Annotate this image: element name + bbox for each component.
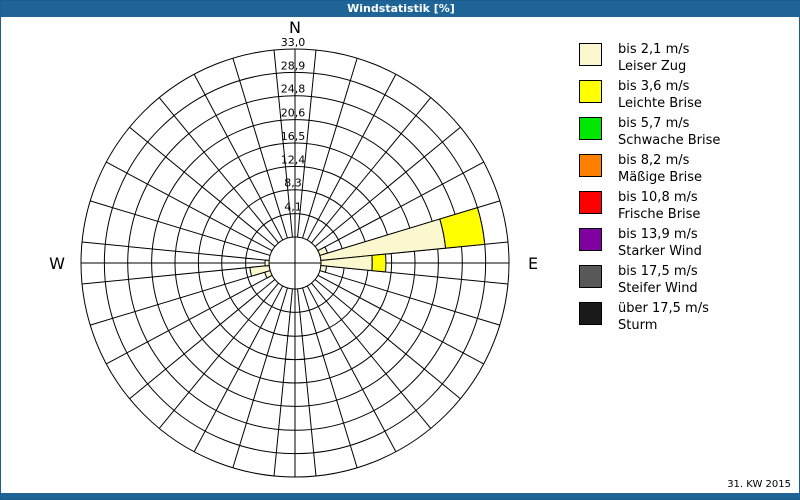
legend-item-text: bis 8,2 m/sMäßige Brise [618,152,702,186]
legend-item-text: bis 17,5 m/sSteifer Wind [618,263,698,297]
grid-spoke [106,162,272,251]
grid-spoke [233,288,288,468]
grid-spoke [315,279,460,398]
grid-spoke [90,271,270,326]
legend-beaufort-label: Leichte Brise [618,95,702,112]
legend-item[interactable]: bis 8,2 m/sMäßige Brise [579,152,794,186]
grid-spoke [307,74,396,240]
wind-petal-segment [265,260,269,266]
legend-color-swatch [579,154,602,177]
grid-spoke [194,286,283,452]
legend-item-text: bis 13,9 m/sStarker Wind [618,226,702,260]
grid-spoke [318,275,484,364]
axis-labels: 4,18,312,416,520,624,828,933,0 [281,36,306,214]
legend-item-text: bis 3,6 m/sLeichte Brise [618,78,702,112]
window-bottom-bar [1,493,800,499]
period-label: 31. KW 2015 [727,479,791,490]
radial-tick-label: 16,5 [281,130,306,143]
legend-item[interactable]: bis 3,6 m/sLeichte Brise [579,78,794,112]
wind-petal-segment [320,266,327,273]
grid-spoke [106,275,272,364]
legend-beaufort-label: Frische Brise [618,206,700,223]
grid-spoke [303,58,358,238]
legend-beaufort-label: Starker Wind [618,243,702,260]
radial-tick-label: 24,8 [281,83,306,96]
wind-petal-segment [440,208,485,249]
compass-label-east: E [528,254,538,273]
legend-item-text: bis 10,8 m/sFrische Brise [618,189,700,223]
grid-spoke [159,98,278,243]
legend-item[interactable]: bis 13,9 m/sStarker Wind [579,226,794,260]
legend-beaufort-label: Schwache Brise [618,132,720,149]
wind-petal-segment [372,254,386,272]
legend-color-swatch [579,228,602,251]
grid-spoke [130,127,275,246]
legend-beaufort-label: Leiser Zug [618,58,689,75]
legend-speed-label: bis 3,6 m/s [618,78,702,95]
grid-spoke [311,98,430,243]
legend-item[interactable]: bis 2,1 m/sLeiser Zug [579,41,794,75]
legend-speed-label: bis 2,1 m/s [618,41,689,58]
window-title: Windstatistik [%] [347,1,455,17]
legend-color-swatch [579,80,602,103]
legend-item-text: bis 2,1 m/sLeiser Zug [618,41,689,75]
legend-speed-label: über 17,5 m/s [618,300,709,317]
legend-color-swatch [579,265,602,288]
legend-item[interactable]: bis 5,7 m/sSchwache Brise [579,115,794,149]
radial-tick-label: 8,3 [284,177,302,190]
legend-speed-label: bis 17,5 m/s [618,263,698,280]
window-title-bar: Windstatistik [%] [1,1,800,17]
grid-spoke [130,279,275,398]
grid-spoke [159,283,278,428]
windstatistik-window: Windstatistik [%] 4,18,312,416,520,624,8… [0,0,800,500]
legend-speed-label: bis 10,8 m/s [618,189,700,206]
wind-rose-chart: 4,18,312,416,520,624,828,933,0NESW [1,17,561,495]
legend-item[interactable]: bis 10,8 m/sFrische Brise [579,189,794,223]
legend-item-text: bis 5,7 m/sSchwache Brise [618,115,720,149]
legend-color-swatch [579,43,602,66]
grid-spoke [311,283,430,428]
legend-item-text: über 17,5 m/sSturm [618,300,709,334]
legend-speed-label: bis 13,9 m/s [618,226,702,243]
legend-speed-label: bis 5,7 m/s [618,115,720,132]
legend-color-swatch [579,191,602,214]
grid-spoke [307,286,396,452]
grid-spoke [233,58,288,238]
grid-spoke [194,74,283,240]
legend-beaufort-label: Mäßige Brise [618,169,702,186]
compass-label-west: W [49,254,65,273]
legend-item[interactable]: bis 17,5 m/sSteifer Wind [579,263,794,297]
legend-speed-label: bis 8,2 m/s [618,152,702,169]
radial-tick-label: 33,0 [281,36,306,49]
grid-spoke [303,288,358,468]
legend-color-swatch [579,117,602,140]
legend-beaufort-label: Steifer Wind [618,280,698,297]
compass-label-north: N [289,18,301,37]
wind-rose-svg: 4,18,312,416,520,624,828,933,0NESW [1,17,561,495]
legend-item[interactable]: über 17,5 m/sSturm [579,300,794,334]
grid-spoke [320,271,500,326]
radial-tick-label: 20,6 [281,107,306,120]
radial-tick-label: 12,4 [281,153,306,166]
legend-color-swatch [579,302,602,325]
radial-tick-label: 28,9 [281,59,306,72]
radial-tick-label: 4,1 [284,201,302,214]
legend: bis 2,1 m/sLeiser Zugbis 3,6 m/sLeichte … [579,41,794,337]
grid-spoke [90,201,270,256]
legend-beaufort-label: Sturm [618,317,709,334]
